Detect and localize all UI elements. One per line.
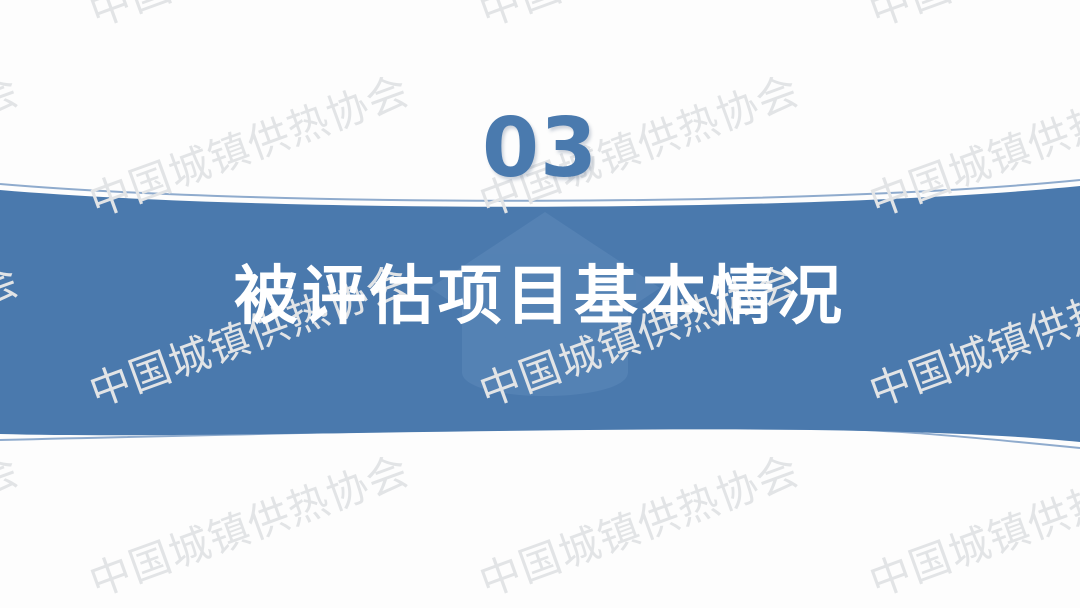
page-title: 被评估项目基本情况 bbox=[0, 262, 1080, 332]
presentation-slide: 中国城镇供热协会中国城镇供热协会中国城镇供热协会中国城镇供热协会中国城镇供热协会… bbox=[0, 0, 1080, 608]
section-number: 03 bbox=[0, 108, 1080, 190]
